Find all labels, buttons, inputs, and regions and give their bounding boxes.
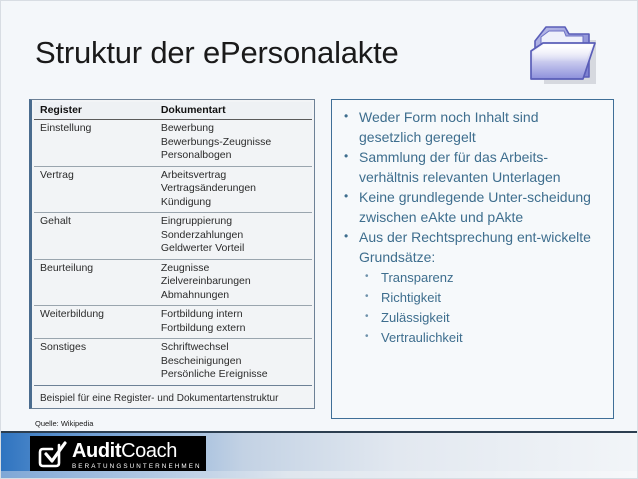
checkmark-box-icon [35, 441, 69, 471]
document-line: Kündigung [161, 196, 308, 210]
table-row: Einstellung Bewerbung Bewerbungs-Zeugnis… [34, 120, 312, 167]
bullet-panel: Weder Form noch Inhalt sind gesetzlich g… [331, 99, 614, 419]
cell-dokumentart: Bewerbung Bewerbungs-Zeugnisse Personalb… [155, 120, 312, 167]
bullet-list: Weder Form noch Inhalt sind gesetzlich g… [340, 108, 603, 267]
table-row: Vertrag Arbeitsvertrag Vertragsänderunge… [34, 166, 312, 213]
list-item: Weder Form noch Inhalt sind gesetzlich g… [340, 108, 603, 147]
document-line: Zielvereinbarungen [161, 275, 308, 289]
document-line: Bescheinigungen [161, 355, 308, 369]
list-item: Keine grundlegende Unter-scheidung zwisc… [340, 188, 603, 227]
footer-bottom-strip [1, 471, 638, 478]
cell-register: Sonstiges [34, 339, 155, 386]
register-table: Register Dokumentart Einstellung Bewerbu… [34, 102, 312, 386]
document-line: Bewerbung [161, 122, 308, 136]
sub-list-item: Richtigkeit [361, 288, 603, 308]
register-table-panel: Register Dokumentart Einstellung Bewerbu… [29, 99, 315, 409]
document-line: Vertragsänderungen [161, 182, 308, 196]
cell-dokumentart: Eingruppierung Sonderzahlungen Geldwerte… [155, 213, 312, 260]
table-row: Gehalt Eingruppierung Sonderzahlungen Ge… [34, 213, 312, 260]
document-line: Bewerbungs-Zeugnisse [161, 136, 308, 150]
logo-name: AuditCoach [72, 441, 202, 461]
source-note: Quelle: Wikipedia [35, 419, 93, 428]
cell-dokumentart: Schriftwechsel Bescheinigungen Persönlic… [155, 339, 312, 386]
logo-tagline: BERATUNGSUNTERNEHMEN [72, 464, 202, 470]
auditcoach-logo: AuditCoach BERATUNGSUNTERNEHMEN [30, 436, 206, 476]
cell-register: Gehalt [34, 213, 155, 260]
cell-dokumentart: Arbeitsvertrag Vertragsänderungen Kündig… [155, 166, 312, 213]
column-header-register: Register [34, 102, 155, 120]
document-line: Personalbogen [161, 149, 308, 163]
table-row: Sonstiges Schriftwechsel Bescheinigungen… [34, 339, 312, 386]
cell-dokumentart: Fortbildung intern Fortbildung extern [155, 306, 312, 339]
open-folder-icon [519, 21, 603, 91]
logo-name-light: Coach [121, 440, 177, 462]
logo-name-bold: Audit [72, 440, 121, 462]
document-line: Schriftwechsel [161, 341, 308, 355]
document-line: Sonderzahlungen [161, 229, 308, 243]
document-line: Fortbildung extern [161, 322, 308, 336]
footer-bar: AuditCoach BERATUNGSUNTERNEHMEN [1, 431, 638, 478]
document-line: Zeugnisse [161, 262, 308, 276]
cell-register: Vertrag [34, 166, 155, 213]
cell-register: Beurteilung [34, 259, 155, 306]
sub-list-item: Zulässigkeit [361, 308, 603, 328]
cell-register: Einstellung [34, 120, 155, 167]
document-line: Arbeitsvertrag [161, 169, 308, 183]
sub-list-item: Transparenz [361, 268, 603, 288]
slide: Struktur der ePersonalakte [0, 0, 638, 479]
page-title: Struktur der ePersonalakte [35, 33, 399, 73]
list-item: Aus der Rechtsprechung ent-wickelte Grun… [340, 228, 603, 267]
table-body: Einstellung Bewerbung Bewerbungs-Zeugnis… [34, 120, 312, 386]
column-header-dokumentart: Dokumentart [155, 102, 312, 120]
cell-register: Weiterbildung [34, 306, 155, 339]
document-line: Eingruppierung [161, 215, 308, 229]
document-line: Fortbildung intern [161, 308, 308, 322]
table-header-row: Register Dokumentart [34, 102, 312, 120]
sub-bullet-list: Transparenz Richtigkeit Zulässigkeit Ver… [340, 268, 603, 348]
document-line: Persönliche Ereignisse [161, 368, 308, 382]
table-row: Weiterbildung Fortbildung intern Fortbil… [34, 306, 312, 339]
cell-dokumentart: Zeugnisse Zielvereinbarungen Abmahnungen [155, 259, 312, 306]
table-row: Beurteilung Zeugnisse Zielvereinbarungen… [34, 259, 312, 306]
list-item: Sammlung der für das Arbeits-verhältnis … [340, 148, 603, 187]
table-caption: Beispiel für eine Register- und Dokument… [34, 386, 312, 409]
sub-list-item: Vertraulichkeit [361, 328, 603, 348]
logo-text: AuditCoach BERATUNGSUNTERNEHMEN [72, 441, 202, 470]
document-line: Geldwerter Vorteil [161, 242, 308, 256]
document-line: Abmahnungen [161, 289, 308, 303]
